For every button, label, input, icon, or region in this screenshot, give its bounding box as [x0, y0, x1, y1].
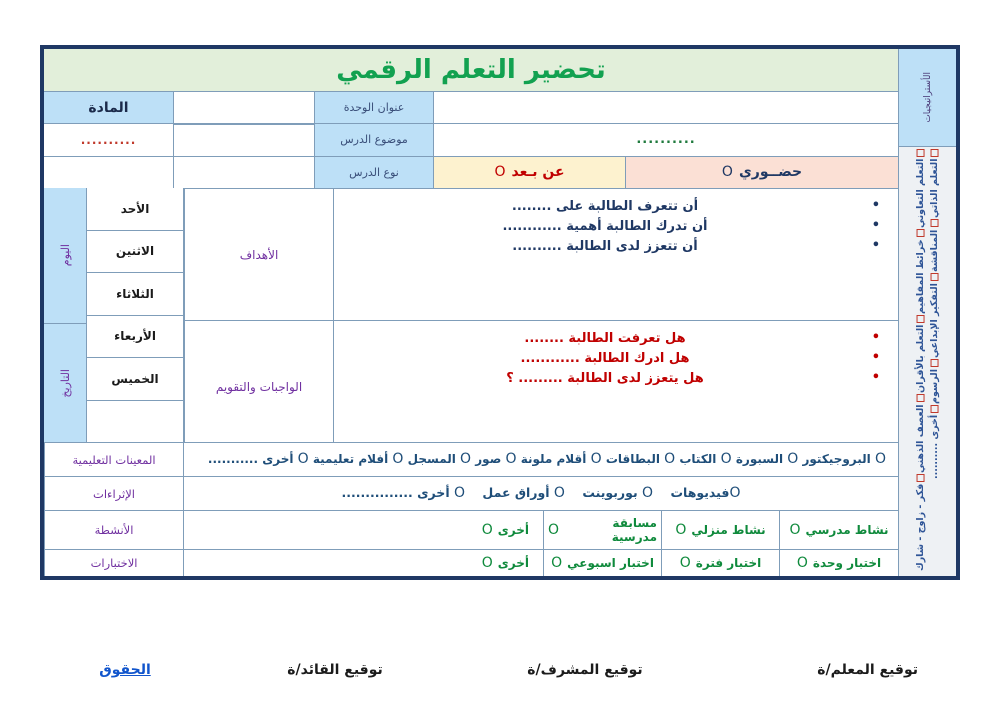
- teaching-aid-option[interactable]: O أفلام تعليمية: [313, 452, 404, 466]
- objectives-label: الأهداف: [184, 189, 334, 320]
- radio-circle-icon[interactable]: O: [789, 522, 800, 538]
- activity-label: نشاط منزلي: [691, 523, 765, 537]
- day-cell-monday[interactable]: الاثنين: [87, 230, 183, 273]
- signature-supervisor: توقيع المشرف/ة: [460, 662, 710, 678]
- rights-link[interactable]: الحقوق: [40, 662, 210, 678]
- strategy-label: التعلم التعاوني: [914, 159, 928, 228]
- header-row-lesson-type: حضــوري O عن بـعد O نوع الدرس: [44, 156, 898, 188]
- radio-circle-icon[interactable]: O: [875, 451, 886, 467]
- exam-option[interactable]: اختبار فترة O: [662, 550, 780, 576]
- header-block: عنوان الوحدة المادة .......... موضوع الد…: [44, 92, 898, 188]
- lesson-topic-value[interactable]: ..........: [434, 124, 898, 155]
- unit-title-value[interactable]: [434, 92, 898, 123]
- strategy-item[interactable]: خرائط المفاهيم: [914, 229, 928, 314]
- objectives-list: أن تتعرف الطالبة على ........ أن تدرك ال…: [344, 197, 884, 257]
- date-vertical-label: التاريخ: [44, 323, 86, 442]
- teaching-aid-label: أخرى ...........: [208, 452, 294, 466]
- exam-option[interactable]: أخرى O: [184, 550, 544, 576]
- signature-teacher: توقيع المعلم/ة: [710, 662, 960, 678]
- teaching-aid-label: الكتاب: [679, 452, 716, 466]
- radio-circle-icon[interactable]: O: [721, 451, 732, 467]
- strategy-label: التفكير الإبداعي: [928, 283, 942, 358]
- enrichment-options: Oفيديوهات O بوربوينت O أوراق عمل O أخرى …: [184, 477, 898, 510]
- date-values-cell[interactable]: [87, 400, 183, 443]
- strategy-label: الرسوم: [928, 369, 942, 404]
- unit-title-label: عنوان الوحدة: [314, 92, 434, 123]
- strategies-rail: الأستراتيجيات التعلم التعاوني خرائط المف…: [898, 49, 956, 576]
- assessment-item: هل يتعزز لدى الطالبة ......... ؟: [344, 369, 866, 389]
- teaching-aid-option[interactable]: O أخرى ...........: [208, 452, 309, 466]
- teaching-aid-option[interactable]: O أقلام ملونة: [521, 452, 602, 466]
- day-cell-sunday[interactable]: الأحد: [87, 188, 183, 230]
- checkbox-icon[interactable]: [930, 273, 938, 281]
- header-row-lesson-topic: .......... موضوع الدرس ..........: [44, 123, 898, 155]
- teaching-aid-label: أقلام ملونة: [521, 452, 587, 466]
- lesson-type-remote-label: عن بـعد: [511, 164, 564, 180]
- strategies-vertical-header-label: الأستراتيجيات: [923, 72, 933, 123]
- strategy-label: المناقشة: [928, 229, 942, 271]
- day-cell-wednesday[interactable]: الأربعاء: [87, 315, 183, 358]
- strategy-label: خرائط المفاهيم: [914, 239, 928, 314]
- strategy-item[interactable]: العصف الذهني: [914, 394, 928, 473]
- exams-label: الاختبارات: [44, 550, 184, 576]
- days-column: الأحد الاثنين الثلاثاء الأربعاء الخميس ا…: [44, 188, 184, 442]
- day-vertical-label: اليوم: [44, 188, 86, 323]
- checkbox-icon[interactable]: [917, 394, 925, 402]
- radio-circle-icon[interactable]: O: [664, 451, 675, 467]
- radio-circle-icon[interactable]: O: [787, 451, 798, 467]
- exam-option[interactable]: اختبار اسبوعي O: [544, 550, 662, 576]
- radio-circle-icon[interactable]: O: [722, 164, 733, 180]
- header-row-unit: عنوان الوحدة المادة: [44, 92, 898, 123]
- exams-options: اختبار وحدة O اختبار فترة O اختبار اسبوع…: [184, 550, 898, 576]
- assessment-list: هل تعرفت الطالبة ........ هل ادرك الطالب…: [344, 329, 884, 389]
- activity-label: مسابقة مدرسية: [564, 516, 657, 544]
- strategy-label: التعلم الذاتي: [928, 159, 942, 218]
- checkbox-icon[interactable]: [930, 359, 938, 367]
- teaching-aids-label: المعينات التعليمية: [44, 443, 184, 476]
- enrichment-content[interactable]: Oفيديوهات O بوربوينت O أوراق عمل O أخرى …: [184, 477, 898, 510]
- objective-item: أن تتعزز لدى الطالبة ..........: [344, 237, 866, 257]
- enrichment-label: الإثراءات: [44, 477, 184, 510]
- day-vertical-label-text: اليوم: [59, 244, 72, 266]
- teaching-aid-option[interactable]: O المسجل: [408, 452, 471, 466]
- radio-circle-icon[interactable]: O: [642, 485, 653, 501]
- day-names-column: الأحد الاثنين الثلاثاء الأربعاء الخميس: [86, 188, 183, 442]
- assessment-item: هل تعرفت الطالبة ........: [344, 329, 866, 349]
- lesson-type-label: نوع الدرس: [314, 157, 434, 188]
- activity-label: أخرى: [498, 523, 529, 537]
- radio-circle-icon[interactable]: O: [482, 555, 493, 571]
- page-title: تحضير التعلم الرقمي: [336, 55, 606, 85]
- strategy-item[interactable]: المناقشة: [928, 219, 942, 271]
- enrichment-label: بوربوينت: [582, 485, 637, 500]
- signature-leader: توقيع القائد/ة: [210, 662, 460, 678]
- strategy-item[interactable]: فكر - زاوج - شارك: [914, 474, 928, 571]
- teaching-aids-options: O البروجيكتور O السبورة O الكتاب O البطا…: [184, 443, 898, 476]
- exam-label: اختبار وحدة: [813, 556, 881, 570]
- radio-circle-icon[interactable]: O: [392, 451, 403, 467]
- strategy-label: التعلم بالأقران: [914, 325, 928, 393]
- objectives-content[interactable]: أن تتعرف الطالبة على ........ أن تدرك ال…: [334, 189, 898, 320]
- strategy-item[interactable]: أخرى ..........: [928, 405, 942, 479]
- teaching-aids-row: O البروجيكتور O السبورة O الكتاب O البطا…: [44, 442, 898, 476]
- enrichment-option[interactable]: O أوراق عمل: [482, 485, 565, 500]
- radio-circle-icon[interactable]: O: [797, 555, 808, 571]
- teaching-aid-label: البروجيكتور: [802, 452, 870, 466]
- teaching-aid-option[interactable]: O البروجيكتور: [802, 452, 886, 466]
- document-title-band: تحضير التعلم الرقمي: [44, 49, 898, 92]
- teaching-aid-option[interactable]: O الكتاب: [679, 452, 731, 466]
- activity-option[interactable]: مسابقة مدرسية O: [544, 511, 662, 549]
- lesson-plan-sheet: الأستراتيجيات التعلم التعاوني خرائط المف…: [40, 45, 960, 580]
- radio-circle-icon[interactable]: O: [551, 555, 562, 571]
- teaching-aid-option[interactable]: O السبورة: [736, 452, 798, 466]
- exams-content: اختبار وحدة O اختبار فترة O اختبار اسبوع…: [184, 550, 898, 576]
- enrichment-row: Oفيديوهات O بوربوينت O أوراق عمل O أخرى …: [44, 476, 898, 510]
- subject-label: المادة: [44, 92, 174, 123]
- strategy-label: أخرى ..........: [928, 415, 942, 479]
- enrichment-label: فيديوهات: [670, 485, 729, 500]
- lesson-type-remote-option[interactable]: عن بـعد O: [434, 157, 626, 188]
- body-block: أن تتعرف الطالبة على ........ أن تدرك ال…: [44, 188, 898, 442]
- activity-option[interactable]: أخرى O: [184, 511, 544, 549]
- radio-circle-icon[interactable]: O: [494, 164, 505, 180]
- page-root: الأستراتيجيات التعلم التعاوني خرائط المف…: [0, 0, 1000, 707]
- assessment-row: هل تعرفت الطالبة ........ هل ادرك الطالب…: [184, 320, 898, 452]
- strategy-item[interactable]: التعلم الذاتي: [928, 149, 942, 218]
- header-spacer-cell-3: [174, 157, 314, 188]
- strategy-label: العصف الذهني: [914, 404, 928, 473]
- checkbox-icon[interactable]: [917, 315, 925, 323]
- enrichment-option[interactable]: O أخرى ...............: [342, 485, 466, 500]
- radio-circle-icon[interactable]: O: [505, 451, 516, 467]
- objective-item: أن تدرك الطالبة أهمية ............: [344, 217, 866, 237]
- radio-circle-icon[interactable]: O: [482, 522, 493, 538]
- date-vertical-label-text: التاريخ: [59, 369, 72, 398]
- assessment-label: الواجبات والتقويم: [184, 321, 334, 452]
- checkbox-icon[interactable]: [917, 229, 925, 237]
- checkbox-icon[interactable]: [930, 405, 938, 413]
- teaching-aid-label: البطاقات: [606, 452, 660, 466]
- radio-circle-icon[interactable]: O: [675, 522, 686, 538]
- radio-circle-icon[interactable]: O: [554, 485, 565, 501]
- enrichment-label: أخرى ...............: [342, 485, 450, 500]
- radio-circle-icon[interactable]: O: [454, 485, 465, 501]
- strategy-label: فكر - زاوج - شارك: [914, 484, 928, 571]
- strategy-item[interactable]: التفكير الإبداعي: [928, 273, 942, 358]
- exam-label: أخرى: [498, 556, 529, 570]
- strategy-item[interactable]: الرسوم: [928, 359, 942, 404]
- subject-placeholder: ..........: [81, 133, 137, 147]
- radio-circle-icon[interactable]: O: [548, 522, 559, 538]
- exams-row: اختبار وحدة O اختبار فترة O اختبار اسبوع…: [44, 549, 898, 576]
- exam-option[interactable]: اختبار وحدة O: [780, 550, 898, 576]
- checkbox-icon[interactable]: [930, 219, 938, 227]
- strategy-item[interactable]: التعلم بالأقران: [914, 315, 928, 393]
- activities-label: الأنشطة: [44, 511, 184, 549]
- lesson-topic-placeholder: ..........: [636, 132, 695, 147]
- days-vertical-labels: اليوم التاريخ: [44, 188, 86, 442]
- activity-option[interactable]: نشاط مدرسي O: [780, 511, 898, 549]
- strategies-vertical-header: الأستراتيجيات: [899, 49, 956, 147]
- activity-option[interactable]: نشاط منزلي O: [662, 511, 780, 549]
- radio-circle-icon[interactable]: O: [460, 451, 471, 467]
- checkbox-icon[interactable]: [930, 149, 938, 157]
- radio-circle-icon[interactable]: O: [680, 555, 691, 571]
- enrichment-option[interactable]: Oفيديوهات: [670, 485, 740, 500]
- lower-rows-block: O البروجيكتور O السبورة O الكتاب O البطا…: [44, 442, 898, 576]
- exam-label: اختبار فترة: [696, 556, 761, 570]
- teaching-aid-option[interactable]: O البطاقات: [606, 452, 675, 466]
- teaching-aid-label: صور: [475, 452, 501, 466]
- checkbox-icon[interactable]: [917, 149, 925, 157]
- header-spacer-cell-2: [174, 124, 314, 155]
- objectives-row: أن تتعرف الطالبة على ........ أن تدرك ال…: [184, 188, 898, 320]
- enrichment-label: أوراق عمل: [482, 485, 549, 500]
- teaching-aid-option[interactable]: O صور: [475, 452, 516, 466]
- strategies-list: التعلم التعاوني خرائط المفاهيم التعلم با…: [899, 147, 956, 576]
- checkbox-icon[interactable]: [917, 474, 925, 482]
- strategy-item[interactable]: التعلم التعاوني: [914, 149, 928, 228]
- enrichment-option[interactable]: O بوربوينت: [582, 485, 653, 500]
- day-cell-tuesday[interactable]: الثلاثاء: [87, 272, 183, 315]
- footer-signatures: توقيع المعلم/ة توقيع المشرف/ة توقيع القا…: [40, 655, 960, 685]
- objective-item: أن تتعرف الطالبة على ........: [344, 197, 866, 217]
- activities-options: نشاط مدرسي O نشاط منزلي O مسابقة مدرسية …: [184, 511, 898, 549]
- teaching-aid-label: أفلام تعليمية: [313, 452, 388, 466]
- radio-circle-icon[interactable]: O: [591, 451, 602, 467]
- subject-value-continued[interactable]: [44, 157, 174, 188]
- exam-label: اختبار اسبوعي: [567, 556, 654, 570]
- header-spacer-cell: [174, 92, 314, 123]
- sections-column: أن تتعرف الطالبة على ........ أن تدرك ال…: [184, 188, 898, 442]
- assessment-content[interactable]: هل تعرفت الطالبة ........ هل ادرك الطالب…: [334, 321, 898, 452]
- activity-label: نشاط مدرسي: [805, 523, 888, 537]
- teaching-aid-label: المسجل: [408, 452, 456, 466]
- lesson-type-inperson-label: حضــوري: [739, 164, 802, 180]
- lesson-type-inperson-option[interactable]: حضــوري O: [626, 157, 898, 188]
- activities-content: نشاط مدرسي O نشاط منزلي O مسابقة مدرسية …: [184, 511, 898, 549]
- radio-circle-icon[interactable]: O: [298, 451, 309, 467]
- activities-row: نشاط مدرسي O نشاط منزلي O مسابقة مدرسية …: [44, 510, 898, 549]
- teaching-aid-label: السبورة: [736, 452, 783, 466]
- teaching-aids-content[interactable]: O البروجيكتور O السبورة O الكتاب O البطا…: [184, 443, 898, 476]
- assessment-item: هل ادرك الطالبة ............: [344, 349, 866, 369]
- sheet-main: تحضير التعلم الرقمي عنوان الوحدة المادة …: [44, 49, 898, 576]
- radio-circle-icon[interactable]: O: [729, 485, 740, 501]
- day-cell-thursday[interactable]: الخميس: [87, 357, 183, 400]
- strategies-list-inner: التعلم التعاوني خرائط المفاهيم التعلم با…: [914, 149, 942, 574]
- lesson-topic-label: موضوع الدرس: [314, 124, 434, 155]
- subject-value[interactable]: ..........: [44, 124, 174, 155]
